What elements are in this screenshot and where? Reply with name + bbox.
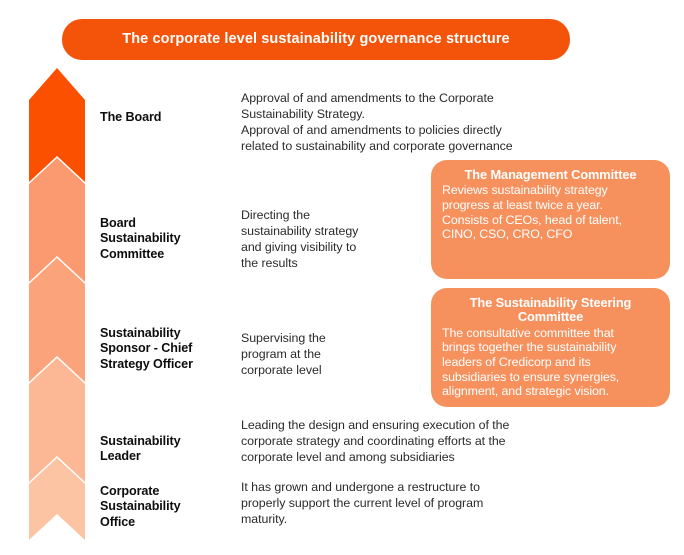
card-management-committee-body: Reviews sustainability strategy progress…: [442, 183, 659, 242]
card-management-committee: The Management Committee Reviews sustain…: [431, 160, 670, 279]
card-sustainability-steering-committee-body: The consultative committee that brings t…: [442, 326, 659, 399]
row-description-sustainability-leader: Leading the design and ensuring executio…: [241, 417, 571, 465]
diagram-title-banner: The corporate level sustainability gover…: [62, 19, 570, 60]
page-title: The corporate level sustainability gover…: [122, 32, 509, 48]
upward-arrow-chevron-stack: [24, 60, 90, 545]
row-label-the-board: The Board: [100, 110, 161, 125]
row-description-sustainability-sponsor: Supervising the program at the corporate…: [241, 330, 411, 378]
row-label-sustainability-sponsor: Sustainability Sponsor - Chief Strategy …: [100, 326, 193, 372]
row-label-corporate-sustainability-office: Corporate Sustainability Office: [100, 484, 180, 530]
row-description-corporate-sustainability-office: It has grown and undergone a restructure…: [241, 479, 571, 527]
arrow-graphic: [24, 60, 90, 545]
diagram-canvas: The corporate level sustainability gover…: [0, 0, 684, 555]
row-description-the-board: Approval of and amendments to the Corpor…: [241, 90, 571, 154]
row-description-board-sustainability-committee: Directing the sustainability strategy an…: [241, 207, 411, 271]
row-label-sustainability-leader: Sustainability Leader: [100, 434, 180, 465]
card-sustainability-steering-committee: The Sustainability Steering Committee Th…: [431, 288, 670, 407]
row-label-board-sustainability-committee: Board Sustainability Committee: [100, 216, 180, 262]
card-management-committee-title: The Management Committee: [442, 168, 659, 182]
card-sustainability-steering-committee-title: The Sustainability Steering Committee: [442, 296, 659, 325]
